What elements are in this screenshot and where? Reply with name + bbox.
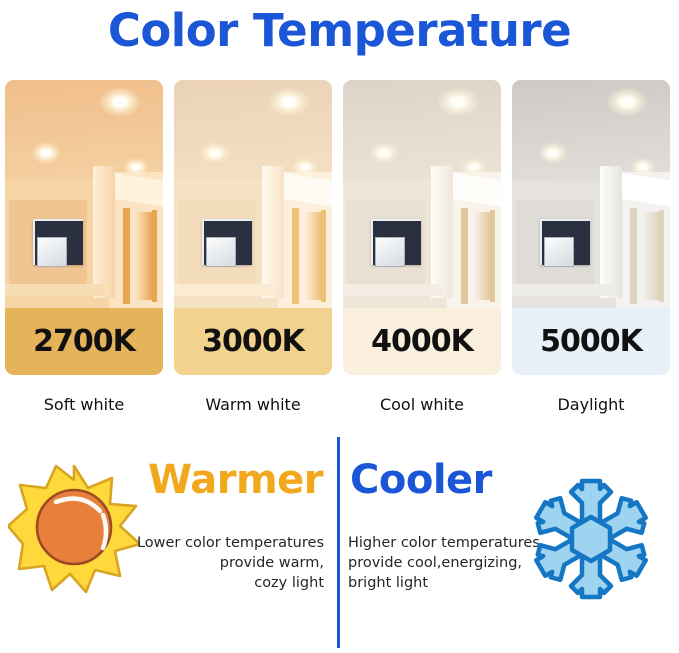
- ceiling-downlight-icon: [99, 87, 141, 117]
- ceiling-downlight-icon: [123, 158, 149, 176]
- scene-door-jamb: [321, 210, 326, 302]
- ceiling-downlight-icon: [200, 142, 230, 164]
- scene-pillar: [93, 166, 115, 298]
- ceiling-downlight-icon: [31, 142, 61, 164]
- scene-appliance-screen: [206, 237, 236, 267]
- panel-caption: Daylight: [512, 392, 670, 420]
- scene-door: [643, 212, 659, 300]
- scene-pillar: [431, 166, 453, 298]
- scene-door-jamb: [152, 210, 157, 302]
- kelvin-band: 3000K: [174, 308, 332, 375]
- ceiling-downlight-icon: [606, 87, 648, 117]
- kelvin-value: 4000K: [371, 324, 473, 359]
- scene-door-jamb: [490, 210, 495, 302]
- panel-caption: Cool white: [343, 392, 501, 420]
- scene-appliance-screen: [375, 237, 405, 267]
- caption-row: Soft white Warm white Cool white Dayligh…: [5, 392, 676, 420]
- ceiling-downlight-icon: [538, 142, 568, 164]
- scene-door-frame: [292, 208, 299, 304]
- ceiling-downlight-icon: [268, 87, 310, 117]
- snowflake-icon: [516, 464, 666, 614]
- warmer-heading: Warmer: [148, 457, 323, 503]
- scene-counter: [5, 284, 105, 296]
- kelvin-band: 4000K: [343, 308, 501, 375]
- ceiling-downlight-icon: [437, 87, 479, 117]
- temperature-panel-row: 2700K 3000K: [5, 80, 676, 375]
- scene-counter: [174, 284, 274, 296]
- comparison-section: Warmer Lower color temperatures provide …: [0, 437, 679, 653]
- scene-appliance-screen: [544, 237, 574, 267]
- kelvin-value: 3000K: [202, 324, 304, 359]
- ceiling-downlight-icon: [461, 158, 487, 176]
- scene-counter: [512, 284, 612, 296]
- warmer-description: Lower color temperatures provide warm, c…: [114, 533, 324, 593]
- ceiling-downlight-icon: [630, 158, 656, 176]
- scene-door: [474, 212, 490, 300]
- scene-door: [136, 212, 152, 300]
- scene-door-frame: [123, 208, 130, 304]
- scene-door-jamb: [659, 210, 664, 302]
- scene-pillar: [600, 166, 622, 298]
- panel-caption: Soft white: [5, 392, 163, 420]
- warmer-side: Warmer Lower color temperatures provide …: [0, 437, 337, 648]
- room-scene-image: [343, 80, 501, 308]
- panel-caption: Warm white: [174, 392, 332, 420]
- page-title: Color Temperature: [0, 2, 679, 60]
- temperature-panel: 4000K: [343, 80, 501, 375]
- room-scene-image: [5, 80, 163, 308]
- kelvin-value: 5000K: [540, 324, 642, 359]
- cooler-side: Cooler Higher color temperatures provide…: [340, 437, 677, 648]
- scene-door-frame: [630, 208, 637, 304]
- scene-counter: [343, 284, 443, 296]
- temperature-panel: 5000K: [512, 80, 670, 375]
- kelvin-band: 5000K: [512, 308, 670, 375]
- scene-appliance-screen: [37, 237, 67, 267]
- temperature-panel: 2700K: [5, 80, 163, 375]
- room-scene-image: [512, 80, 670, 308]
- scene-door: [305, 212, 321, 300]
- ceiling-downlight-icon: [292, 158, 318, 176]
- kelvin-value: 2700K: [33, 324, 135, 359]
- scene-door-frame: [461, 208, 468, 304]
- scene-pillar: [262, 166, 284, 298]
- cooler-heading: Cooler: [350, 457, 492, 503]
- kelvin-band: 2700K: [5, 308, 163, 375]
- room-scene-image: [174, 80, 332, 308]
- temperature-panel: 3000K: [174, 80, 332, 375]
- ceiling-downlight-icon: [369, 142, 399, 164]
